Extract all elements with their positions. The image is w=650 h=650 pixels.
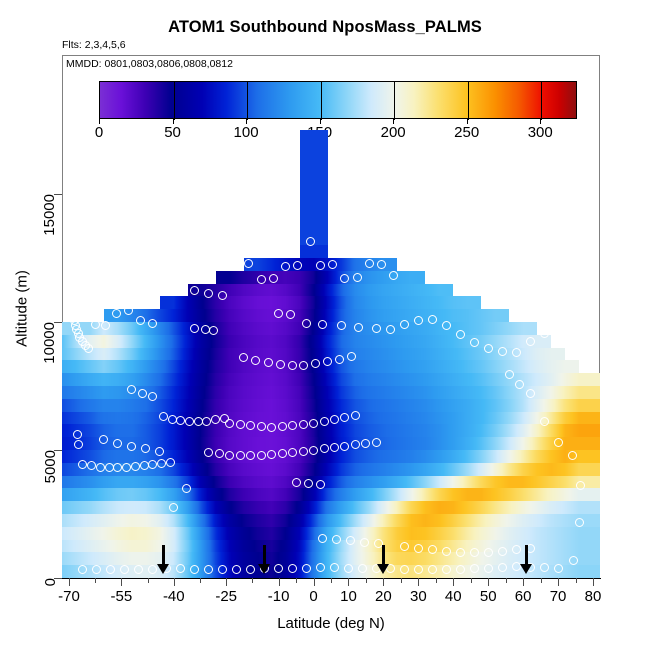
sample-marker xyxy=(185,417,194,426)
sample-marker xyxy=(299,447,308,456)
sample-marker xyxy=(166,277,175,286)
x-axis-tick-label: -25 xyxy=(215,588,237,605)
sample-marker xyxy=(91,320,100,329)
sample-marker xyxy=(244,259,253,268)
sample-marker xyxy=(278,449,287,458)
sample-marker xyxy=(225,451,234,460)
sample-marker xyxy=(288,361,297,370)
sample-marker xyxy=(246,565,255,574)
sample-marker xyxy=(554,323,563,332)
sample-marker xyxy=(127,442,136,451)
sample-marker xyxy=(201,325,210,334)
sample-marker xyxy=(138,389,147,398)
sample-marker xyxy=(386,325,395,334)
colorbar-divider xyxy=(394,82,395,120)
sample-marker xyxy=(498,347,507,356)
x-axis-minor-tick xyxy=(506,578,507,583)
x-axis-tick xyxy=(523,578,524,586)
y-axis-tick-label: 15000 xyxy=(42,194,59,236)
sample-marker xyxy=(190,286,199,295)
sample-marker xyxy=(353,273,362,282)
colorbar: 050100150200250300 xyxy=(99,81,577,119)
sample-marker xyxy=(344,564,353,573)
sample-marker xyxy=(299,361,308,370)
sample-marker xyxy=(484,548,493,557)
dates-annotation: MMDD: 0801,0803,0806,0808,0812 xyxy=(66,58,233,70)
sample-marker xyxy=(498,563,507,572)
arrow-head xyxy=(377,564,389,574)
x-axis-tick-label: 30 xyxy=(410,588,427,605)
sample-marker xyxy=(414,544,423,553)
x-axis-tick-label: 50 xyxy=(480,588,497,605)
sample-marker xyxy=(575,518,584,527)
flights-annotation: Flts: 2,3,4,5,6 xyxy=(62,39,126,51)
sample-marker xyxy=(318,534,327,543)
sample-marker xyxy=(267,423,276,432)
arrow-head xyxy=(520,564,532,574)
x-axis-tick-label: 70 xyxy=(550,588,567,605)
x-axis-tick xyxy=(121,578,122,586)
x-axis-tick xyxy=(418,578,419,586)
arrow-head xyxy=(258,564,270,574)
sample-marker xyxy=(554,564,563,573)
colorbar-divider xyxy=(468,82,469,120)
sample-marker xyxy=(470,564,479,573)
sample-marker xyxy=(292,478,301,487)
sample-marker xyxy=(309,446,318,455)
x-axis-tick-label: -10 xyxy=(268,588,290,605)
x-axis-tick xyxy=(453,578,454,586)
colorbar-divider xyxy=(321,82,322,120)
y-axis-tick-label: 5000 xyxy=(42,450,59,483)
sample-marker xyxy=(215,449,224,458)
sample-marker xyxy=(505,370,514,379)
x-axis-minor-tick xyxy=(541,578,542,583)
sample-marker xyxy=(232,260,241,269)
sample-marker xyxy=(540,417,549,426)
sample-marker xyxy=(124,306,133,315)
sample-marker xyxy=(360,538,369,547)
x-axis-minor-tick xyxy=(436,578,437,583)
sample-marker xyxy=(74,440,83,449)
heatmap-panel xyxy=(62,130,600,578)
sample-marker xyxy=(122,463,131,472)
sample-marker xyxy=(428,315,437,324)
arrow-head xyxy=(157,564,169,574)
sample-marker xyxy=(512,348,521,357)
x-axis-minor-tick xyxy=(148,578,149,583)
sample-marker xyxy=(526,389,535,398)
x-axis-tick-label: 0 xyxy=(309,588,317,605)
x-axis-minor-tick xyxy=(200,578,201,583)
sample-marker xyxy=(318,320,327,329)
sample-marker xyxy=(140,461,149,470)
sample-marker xyxy=(269,274,278,283)
sample-marker xyxy=(512,545,521,554)
sample-marker xyxy=(218,565,227,574)
colorbar-gradient xyxy=(99,81,577,119)
sample-marker xyxy=(73,430,82,439)
x-axis-tick-label: 40 xyxy=(445,588,462,605)
sample-marker xyxy=(456,548,465,557)
sample-marker xyxy=(332,535,341,544)
y-axis-tick-label: 0 xyxy=(42,578,59,586)
sample-marker xyxy=(257,451,266,460)
sample-marker xyxy=(236,451,245,460)
sample-marker xyxy=(540,563,549,572)
x-axis-label: Latitude (deg N) xyxy=(62,615,600,632)
sample-marker xyxy=(159,412,168,421)
x-axis-tick-label: -40 xyxy=(163,588,185,605)
sample-marker xyxy=(168,415,177,424)
sample-marker xyxy=(311,359,320,368)
x-axis-minor-tick xyxy=(366,578,367,583)
sample-marker xyxy=(456,565,465,574)
sample-marker xyxy=(377,260,386,269)
sample-marker xyxy=(400,320,409,329)
sample-marker xyxy=(568,451,577,460)
sample-marker xyxy=(288,448,297,457)
x-axis-minor-tick xyxy=(252,578,253,583)
sample-marker xyxy=(372,438,381,447)
colorbar-ticks: 050100150200250300 xyxy=(99,119,577,127)
sample-marker xyxy=(330,443,339,452)
sample-marker xyxy=(414,316,423,325)
sample-marker xyxy=(276,360,285,369)
x-axis-tick xyxy=(488,578,489,586)
x-axis-tick-label: -70 xyxy=(58,588,80,605)
sample-marker xyxy=(112,309,121,318)
sample-marker xyxy=(358,564,367,573)
sample-marker xyxy=(400,565,409,574)
colorbar-divider xyxy=(174,82,175,120)
sample-marker xyxy=(232,565,241,574)
x-axis-tick-label: 10 xyxy=(340,588,357,605)
x-axis-tick xyxy=(593,578,594,586)
sample-marker xyxy=(304,479,313,488)
sample-marker xyxy=(299,420,308,429)
sample-marker xyxy=(320,444,329,453)
sample-marker xyxy=(288,564,297,573)
sample-marker xyxy=(316,480,325,489)
x-axis-minor-tick xyxy=(471,578,472,583)
sample-marker xyxy=(526,337,535,346)
sample-marker xyxy=(351,411,360,420)
sample-marker xyxy=(190,565,199,574)
sample-marker xyxy=(257,275,266,284)
sample-marker xyxy=(182,484,191,493)
colorbar-divider xyxy=(541,82,542,120)
x-axis-tick xyxy=(174,578,175,586)
sample-marker xyxy=(267,450,276,459)
x-axis-minor-tick xyxy=(296,578,297,583)
sample-marker xyxy=(204,565,213,574)
sample-marker xyxy=(456,330,465,339)
sample-marker xyxy=(442,547,451,556)
sample-marker xyxy=(554,438,563,447)
sample-marker xyxy=(302,564,311,573)
sample-marker xyxy=(400,542,409,551)
x-axis-minor-tick xyxy=(331,578,332,583)
x-axis-tick xyxy=(348,578,349,586)
x-axis-tick xyxy=(279,578,280,586)
x-axis-minor-tick xyxy=(576,578,577,583)
sample-marker xyxy=(330,415,339,424)
x-axis-tick-label: 20 xyxy=(375,588,392,605)
sample-marker xyxy=(365,259,374,268)
sample-marker xyxy=(428,565,437,574)
colorbar-divider xyxy=(247,82,248,120)
sample-marker xyxy=(309,419,318,428)
x-axis-tick-label: -55 xyxy=(111,588,133,605)
sample-marker xyxy=(540,329,549,338)
sample-marker xyxy=(414,565,423,574)
sample-marker xyxy=(96,463,105,472)
sample-marker xyxy=(470,338,479,347)
x-axis-tick xyxy=(558,578,559,586)
sample-marker xyxy=(306,237,315,246)
sample-marker xyxy=(484,564,493,573)
x-axis-tick xyxy=(314,578,315,586)
x-axis-tick xyxy=(69,578,70,586)
sample-marker xyxy=(236,420,245,429)
sample-marker xyxy=(225,419,234,428)
sample-marker xyxy=(320,417,329,426)
x-axis: -70-55-40-25-1001020304050607080 xyxy=(62,578,601,588)
sample-marker xyxy=(218,291,227,300)
x-axis-tick xyxy=(226,578,227,586)
sample-marker xyxy=(302,319,311,328)
x-axis-tick-label: 60 xyxy=(515,588,532,605)
x-axis-minor-tick xyxy=(95,578,96,583)
sample-marker xyxy=(274,309,283,318)
sample-marker xyxy=(372,324,381,333)
y-axis: 050001000015000 xyxy=(54,130,62,580)
y-axis-tick-label: 10000 xyxy=(42,322,59,364)
page-title: ATOM1 Southbound NposMass_PALMS xyxy=(0,18,650,37)
y-axis-label: Altitude (m) xyxy=(14,199,31,419)
x-axis-minor-tick xyxy=(401,578,402,583)
sample-marker xyxy=(78,565,87,574)
x-axis-tick-label: 80 xyxy=(585,588,602,605)
x-axis-tick xyxy=(383,578,384,586)
sample-marker xyxy=(442,565,451,574)
sample-marker xyxy=(498,547,507,556)
sample-marker xyxy=(335,355,344,364)
sample-marker xyxy=(569,556,578,565)
